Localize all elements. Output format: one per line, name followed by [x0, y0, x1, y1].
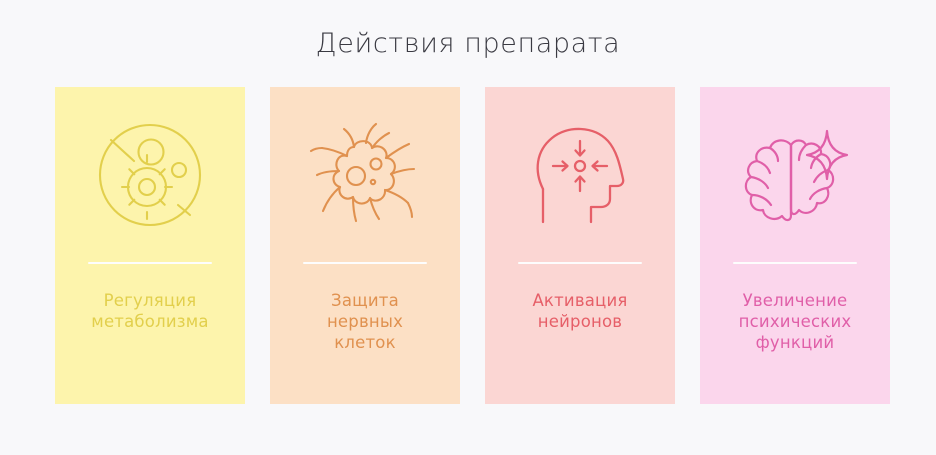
infographic-page: Действия препарата: [0, 0, 936, 455]
card-nerve-cell-protection[interactable]: Защита нервных клеток: [270, 87, 460, 404]
card-neuron-activation[interactable]: Активация нейронов: [485, 87, 675, 404]
card-metabolism-regulation[interactable]: Регуляция метаболизма: [55, 87, 245, 404]
card-label: Защита нервных клеток: [319, 290, 411, 353]
neuron-cell-icon: [270, 87, 460, 262]
brain-sparkle-icon: [700, 87, 890, 262]
card-divider: [303, 262, 427, 264]
head-arrows-icon: [485, 87, 675, 262]
cell-organism-icon: [55, 87, 245, 262]
card-divider: [733, 262, 857, 264]
card-list: Регуляция метаболизма: [55, 87, 895, 404]
card-mental-function-increase[interactable]: Увеличение психических функций: [700, 87, 890, 404]
card-label: Регуляция метаболизма: [83, 290, 216, 332]
card-label: Увеличение психических функций: [731, 290, 860, 353]
page-title: Действия препарата: [0, 28, 936, 59]
card-label: Активация нейронов: [524, 290, 635, 332]
card-divider: [88, 262, 212, 264]
card-divider: [518, 262, 642, 264]
